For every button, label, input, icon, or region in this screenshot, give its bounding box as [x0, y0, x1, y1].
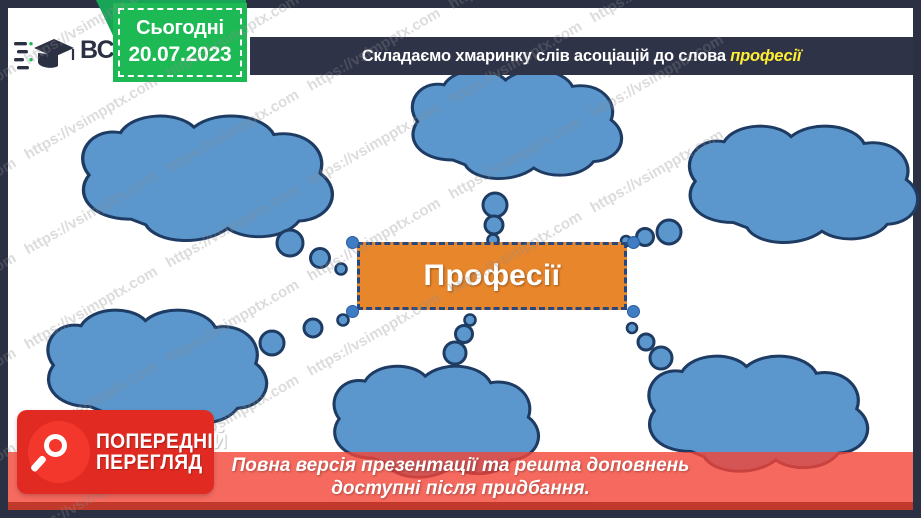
selection-handle-bottom-right[interactable] [627, 305, 640, 318]
preview-badge-line-1: ПОПЕРЕДНІЙ [96, 431, 227, 452]
cloud-bubble [465, 315, 476, 326]
cloud-top-right [689, 126, 917, 242]
selection-handle-top-left[interactable] [346, 236, 359, 249]
cloud-bubble [483, 193, 507, 217]
cloud-bubble [277, 230, 303, 256]
preview-badge[interactable]: ПОПЕРЕДНІЙ ПЕРЕГЛЯД [17, 410, 214, 494]
cloud-bubble [657, 220, 681, 244]
center-concept-box[interactable]: Професії [357, 242, 627, 310]
header-title-text: Складаємо хмаринку слів асоціацій до сло… [362, 47, 731, 65]
preview-badge-line-2: ПЕРЕГЛЯД [96, 452, 227, 473]
graduation-cap-icon [14, 36, 76, 76]
magnifier-icon [28, 421, 90, 483]
date-badge-label: Сьогодні [136, 16, 224, 42]
cloud-bubble [444, 342, 466, 364]
cloud-bubble [456, 326, 473, 343]
cloud-top-center [412, 70, 621, 178]
cloud-bubble [485, 216, 503, 234]
date-badge: Сьогодні 20.07.2023 [113, 3, 247, 82]
cloud-bubble [627, 323, 637, 333]
slide-root: Професії Складаємо хмаринку слів асоціац… [0, 0, 921, 518]
banner-bottom-strip [8, 502, 913, 510]
cloud-bubble [260, 331, 284, 355]
header-bar: Складаємо хмаринку слів асоціацій до сло… [250, 37, 913, 75]
selection-handle-top-right[interactable] [627, 236, 640, 249]
cloud-bubble [304, 319, 322, 337]
selection-handle-bottom-left[interactable] [346, 305, 359, 318]
date-badge-value: 20.07.2023 [128, 42, 231, 69]
purchase-notice-line-1: Повна версія презентації та решта доповн… [232, 454, 690, 477]
header-accent-word: професії [730, 47, 801, 65]
cloud-bubble [336, 264, 347, 275]
header-title: Складаємо хмаринку слів асоціацій до сло… [362, 47, 801, 66]
cloud-top-left [83, 116, 333, 241]
cloud-bubble [338, 315, 349, 326]
cloud-bubble [638, 334, 654, 350]
cloud-bubble [650, 347, 672, 369]
center-concept-label: Професії [423, 259, 560, 293]
purchase-notice-line-2: доступні після придбання. [331, 477, 590, 500]
cloud-bubble [311, 249, 330, 268]
